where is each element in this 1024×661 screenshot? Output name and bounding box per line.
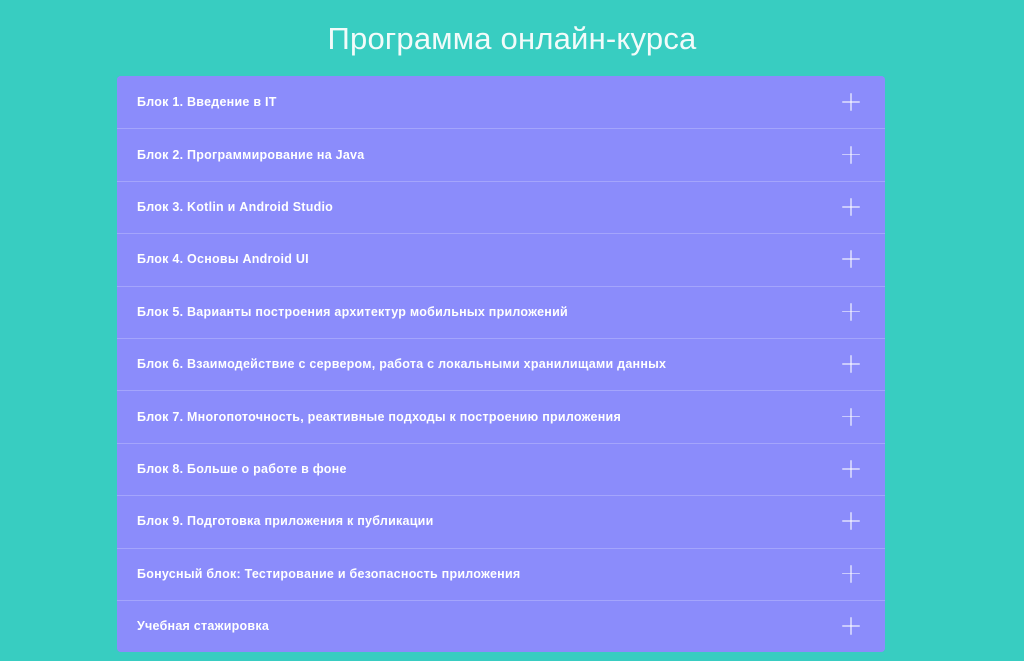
plus-icon[interactable] [840, 353, 862, 375]
accordion-item-label: Блок 6. Взаимодействие с сервером, работ… [137, 356, 826, 372]
plus-icon[interactable] [840, 615, 862, 637]
plus-icon[interactable] [840, 301, 862, 323]
course-program-page: Программа онлайн-курса Блок 1. Введение … [0, 0, 1024, 661]
accordion-item-label: Блок 3. Kotlin и Android Studio [137, 199, 826, 215]
plus-icon[interactable] [840, 196, 862, 218]
accordion-item[interactable]: Блок 2. Программирование на Java [117, 128, 885, 180]
accordion-item[interactable]: Блок 3. Kotlin и Android Studio [117, 181, 885, 233]
accordion-item[interactable]: Блок 1. Введение в IT [117, 76, 885, 128]
accordion-item-label: Блок 5. Варианты построения архитектур м… [137, 304, 826, 320]
plus-icon[interactable] [840, 144, 862, 166]
plus-icon[interactable] [840, 406, 862, 428]
accordion-item[interactable]: Блок 5. Варианты построения архитектур м… [117, 286, 885, 338]
plus-icon[interactable] [840, 248, 862, 270]
accordion-item-label: Блок 1. Введение в IT [137, 94, 826, 110]
plus-icon[interactable] [840, 563, 862, 585]
accordion-item-label: Бонусный блок: Тестирование и безопаснос… [137, 566, 826, 582]
accordion-item-label: Блок 7. Многопоточность, реактивные подх… [137, 409, 826, 425]
accordion-item-label: Блок 9. Подготовка приложения к публикац… [137, 513, 826, 529]
accordion-item[interactable]: Блок 4. Основы Android UI [117, 233, 885, 285]
course-program-accordion: Блок 1. Введение в ITБлок 2. Программиро… [117, 76, 885, 652]
accordion-item[interactable]: Учебная стажировка [117, 600, 885, 652]
plus-icon[interactable] [840, 91, 862, 113]
accordion-item-label: Блок 8. Больше о работе в фоне [137, 461, 826, 477]
accordion-item[interactable]: Блок 7. Многопоточность, реактивные подх… [117, 390, 885, 442]
plus-icon[interactable] [840, 458, 862, 480]
plus-icon[interactable] [840, 510, 862, 532]
accordion-item[interactable]: Блок 8. Больше о работе в фоне [117, 443, 885, 495]
accordion-item[interactable]: Блок 6. Взаимодействие с сервером, работ… [117, 338, 885, 390]
accordion-item[interactable]: Блок 9. Подготовка приложения к публикац… [117, 495, 885, 547]
accordion-item[interactable]: Бонусный блок: Тестирование и безопаснос… [117, 548, 885, 600]
accordion-item-label: Блок 4. Основы Android UI [137, 251, 826, 267]
page-title: Программа онлайн-курса [0, 19, 1024, 59]
accordion-item-label: Блок 2. Программирование на Java [137, 147, 826, 163]
accordion-item-label: Учебная стажировка [137, 618, 826, 634]
